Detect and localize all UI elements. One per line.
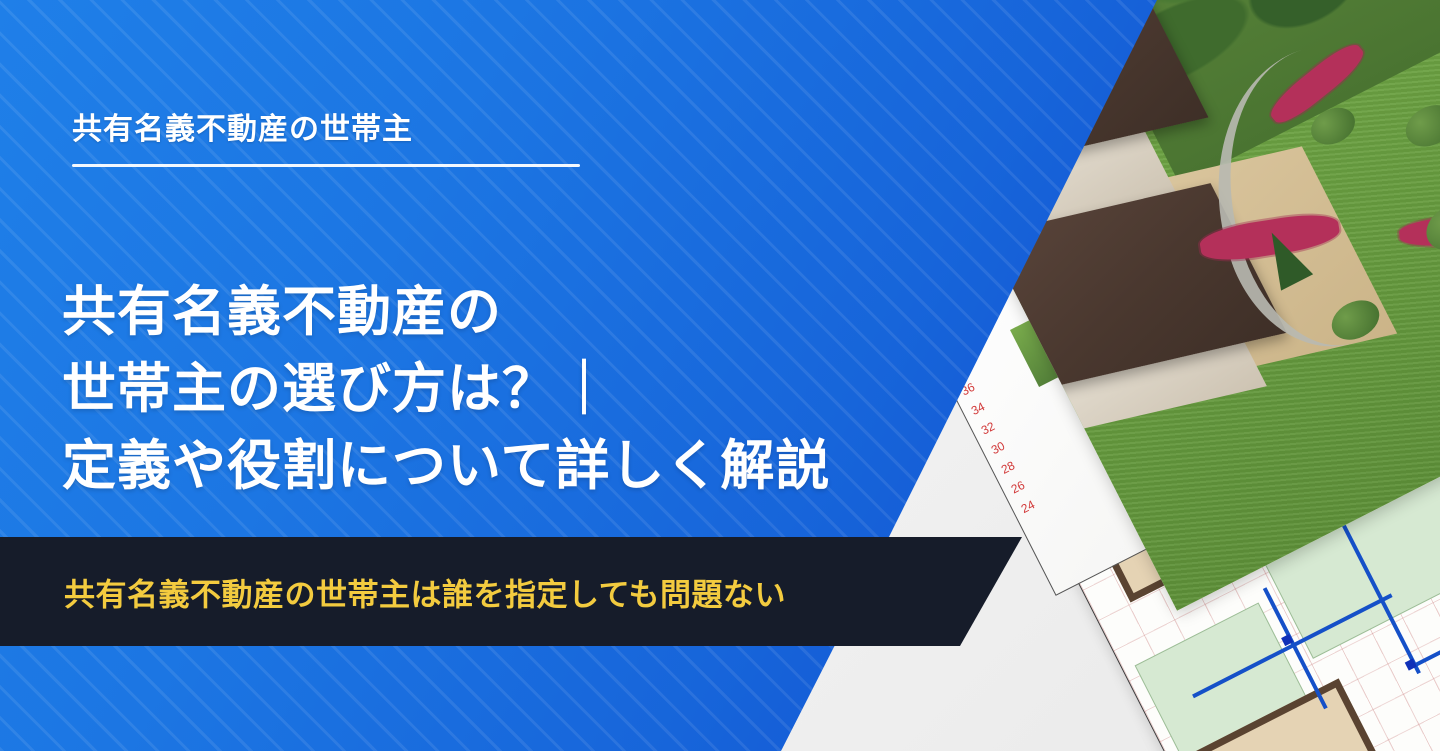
headline-line-3: 定義や役割について詳しく解説 — [62, 428, 830, 505]
headline-line-1: 共有名義不動産の — [62, 274, 830, 351]
subtitle-ribbon: 共有名義不動産の世帯主は誰を指定しても問題ない — [0, 537, 1022, 646]
headline-line-2: 世帯主の選び方は？｜ — [62, 351, 830, 428]
eyebrow-underline — [72, 164, 580, 167]
hero-banner: 4 2 0 38 36 34 32 30 28 26 24 — [0, 0, 1440, 751]
eyebrow-label: 共有名義不動産の世帯主 — [72, 112, 592, 148]
subtitle-ribbon-text: 共有名義不動産の世帯主は誰を指定しても問題ない — [64, 569, 786, 614]
eyebrow-block: 共有名義不動産の世帯主 — [72, 112, 592, 167]
page-title: 共有名義不動産の 世帯主の選び方は？｜ 定義や役割について詳しく解説 — [62, 274, 830, 504]
